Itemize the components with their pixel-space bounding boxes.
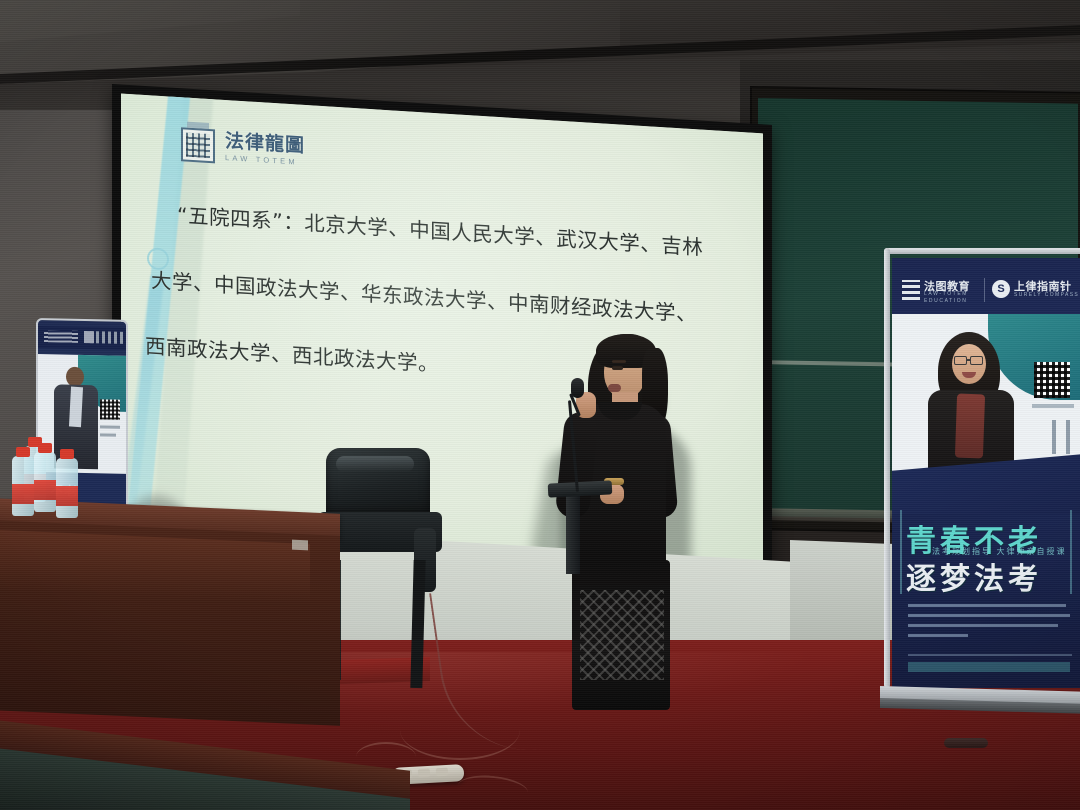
glasses-icon-left bbox=[954, 356, 967, 365]
slide-logo-text: 法律龍圖 LAW TOTEM bbox=[225, 132, 305, 166]
lecture-hall-photo: 法律龍圖 LAW TOTEM “五院四系”：北京大学、中国人民大学、武汉大学、吉… bbox=[0, 0, 1080, 810]
banner-vertical-text-2 bbox=[1066, 420, 1070, 454]
banner-left-logo-primary bbox=[44, 330, 78, 343]
banner-paragraph-line-4 bbox=[908, 634, 968, 637]
banner-left-portrait-shirt bbox=[69, 386, 83, 427]
banner-paragraph-line-3 bbox=[908, 624, 1058, 627]
glasses-icon-right bbox=[970, 356, 983, 365]
banner-footer-bar bbox=[908, 662, 1070, 672]
banner-footer-line bbox=[908, 654, 1072, 656]
compass-circle-icon: S bbox=[992, 280, 1010, 298]
speaker-mouth bbox=[608, 384, 621, 392]
banner-portrait-scarf bbox=[955, 394, 985, 459]
podium-latch bbox=[292, 540, 308, 551]
banner-slogan-line2: 逐梦法考 bbox=[906, 554, 1042, 598]
floor-object bbox=[944, 738, 988, 748]
speaker-eyebrow bbox=[612, 360, 626, 363]
water-bottle bbox=[34, 452, 56, 512]
slide-logo: 法律龍圖 LAW TOTEM bbox=[179, 125, 305, 171]
totem-seal-icon bbox=[179, 125, 217, 165]
slide-line-2: 大学、中国政法大学、华东政法大学、中南财经政法大学、 bbox=[143, 269, 743, 327]
banner-logo-divider bbox=[984, 278, 985, 302]
banner-right-logo-secondary-en: SURELY COMPASS bbox=[1014, 292, 1079, 298]
mic-cable-lower bbox=[400, 700, 520, 760]
banner-left-logo-secondary bbox=[84, 331, 124, 344]
banner-right-logo-primary-en1: LAW-TOTEM bbox=[924, 291, 968, 297]
bars-logo-icon bbox=[902, 280, 920, 300]
water-bottle bbox=[12, 456, 34, 516]
power-strip-socket bbox=[418, 769, 430, 778]
slide-logo-cn: 法律龍圖 bbox=[225, 132, 305, 156]
banner-vertical-text-1 bbox=[1052, 420, 1056, 454]
banner-left-caption-1 bbox=[100, 425, 120, 428]
qr-code-icon bbox=[1034, 362, 1070, 398]
banner-stand-pole bbox=[884, 248, 890, 688]
chair-backrest-highlight bbox=[336, 456, 414, 472]
speaker-eye bbox=[612, 366, 623, 370]
banner-right-logo-primary-en2: EDUCATION bbox=[924, 298, 967, 304]
qr-caption-line bbox=[1032, 404, 1074, 408]
mic-stand-column bbox=[566, 494, 580, 574]
glasses-bridge bbox=[967, 359, 970, 361]
microphone-icon bbox=[571, 378, 584, 398]
banner-right: 法图教育 LAW-TOTEM EDUCATION S 上律指南针 SURELY … bbox=[892, 258, 1080, 688]
banner-left-caption-2 bbox=[100, 433, 116, 436]
power-strip-socket bbox=[436, 768, 448, 777]
banner-stand-top-bar bbox=[884, 248, 1080, 254]
banner-paragraph-line-1 bbox=[908, 604, 1066, 607]
banner-paragraph-line-2 bbox=[908, 614, 1070, 617]
water-bottle bbox=[56, 458, 78, 518]
qr-code-icon-left bbox=[100, 399, 120, 419]
